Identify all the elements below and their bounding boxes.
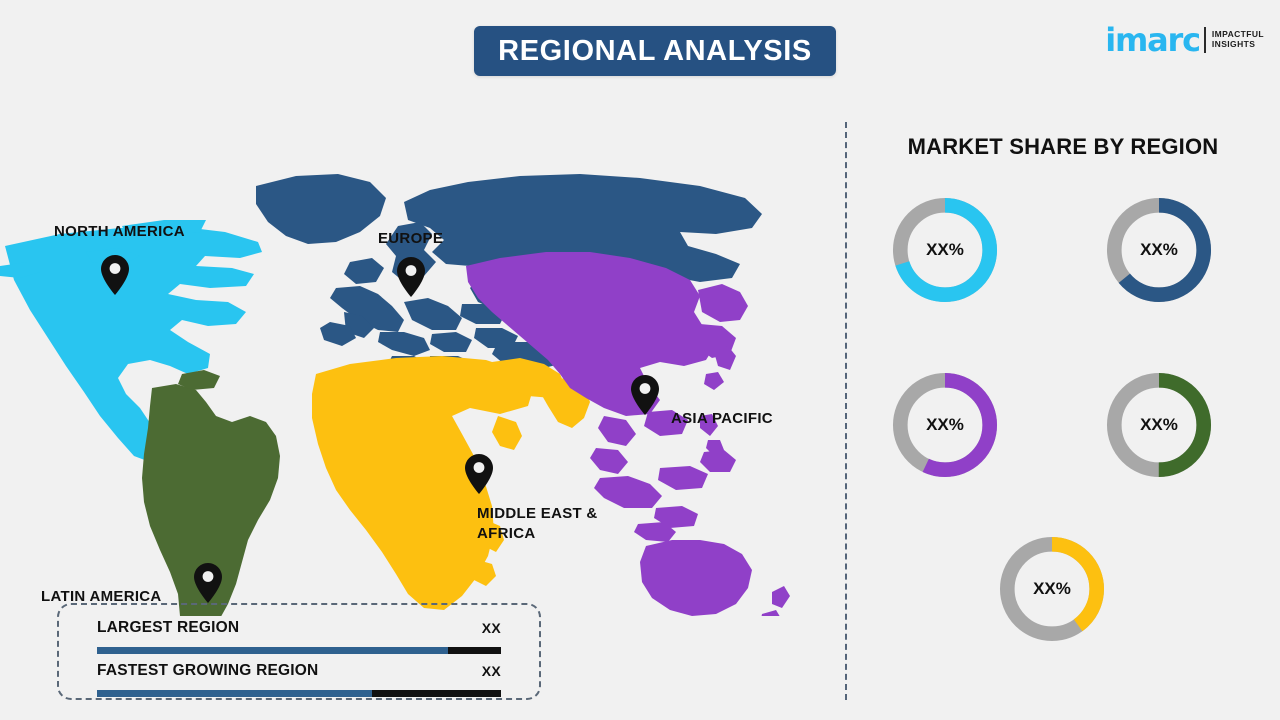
map-label-middle-east-africa: MIDDLE EAST & AFRICA — [477, 504, 598, 545]
logo-divider — [1204, 27, 1206, 53]
legend-label: FASTEST GROWING REGION — [97, 662, 318, 680]
logo-tagline-line2: INSIGHTS — [1212, 40, 1264, 50]
page-title-banner: REGIONAL ANALYSIS — [474, 26, 836, 76]
imarc-logo: imarc IMPACTFUL INSIGHTS — [1105, 20, 1264, 60]
legend-progress-fill — [97, 647, 448, 654]
donut-chart-latin-america: XX% — [1100, 366, 1218, 484]
legend-progress-track — [97, 690, 501, 697]
donut-chart-middle-east-africa: XX% — [993, 530, 1111, 648]
infographic-slide: REGIONAL ANALYSIS imarc IMPACTFUL INSIGH… — [0, 0, 1280, 720]
map-region-middle-east-africa — [312, 356, 590, 610]
donut-chart-north-america: XX% — [886, 191, 1004, 309]
logo-tagline: IMPACTFUL INSIGHTS — [1212, 30, 1264, 50]
market-share-heading: MARKET SHARE BY REGION — [846, 134, 1280, 160]
market-share-panel: MARKET SHARE BY REGION XX% XX% XX% — [846, 96, 1280, 720]
map-label-europe: EUROPE — [378, 229, 443, 249]
legend-row-largest-region: LARGEST REGION XX — [97, 619, 501, 657]
donut-chart-asia-pacific: XX% — [886, 366, 1004, 484]
donut-value-label: XX% — [886, 191, 1004, 309]
map-pin-icon-europe[interactable] — [396, 256, 426, 298]
donut-value-label: XX% — [993, 530, 1111, 648]
world-map-graphic — [0, 116, 845, 616]
map-pin-icon-latin-america[interactable] — [193, 562, 223, 604]
donut-value-label: XX% — [1100, 191, 1218, 309]
legend-progress-fill — [97, 690, 372, 697]
map-pin-icon-asia-pacific[interactable] — [630, 374, 660, 416]
map-label-asia-pacific: ASIA PACIFIC — [671, 409, 773, 429]
legend-progress-track — [97, 647, 501, 654]
legend-box: LARGEST REGION XX FASTEST GROWING REGION… — [57, 603, 541, 700]
map-pin-icon-middle-east-africa[interactable] — [464, 453, 494, 495]
legend-value: XX — [482, 663, 501, 679]
logo-wordmark: imarc — [1105, 24, 1200, 56]
map-label-north-america: NORTH AMERICA — [54, 222, 185, 242]
donut-value-label: XX% — [1100, 366, 1218, 484]
legend-label: LARGEST REGION — [97, 619, 239, 637]
donut-chart-europe: XX% — [1100, 191, 1218, 309]
page-title: REGIONAL ANALYSIS — [498, 35, 812, 68]
legend-row-fastest-growing-region: FASTEST GROWING REGION XX — [97, 662, 501, 700]
world-map-panel: NORTH AMERICA EUROPE ASIA PACIFIC MIDDLE… — [0, 96, 845, 720]
donut-value-label: XX% — [886, 366, 1004, 484]
map-pin-icon-north-america[interactable] — [100, 254, 130, 296]
legend-value: XX — [482, 620, 501, 636]
